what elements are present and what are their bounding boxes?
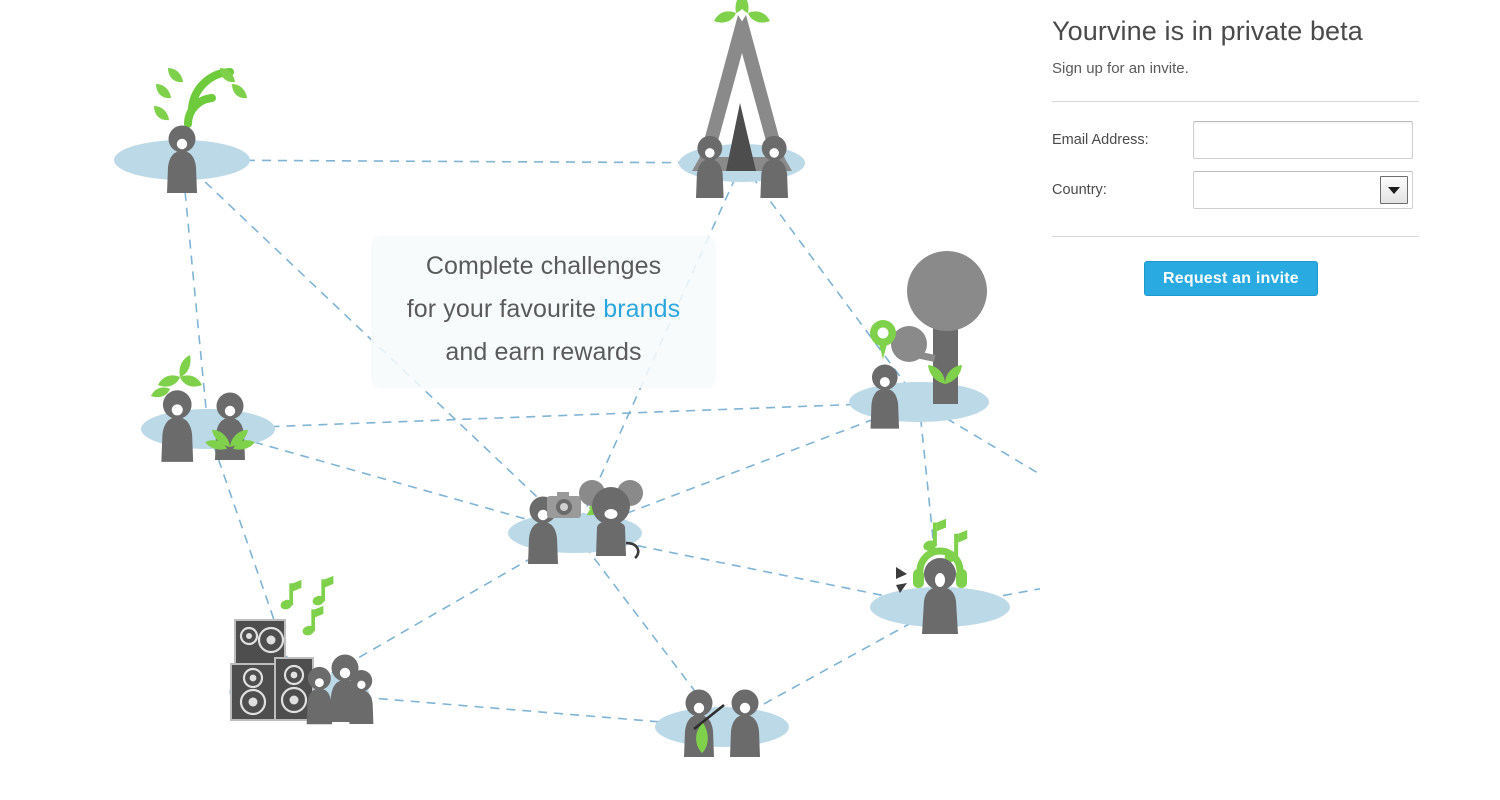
person-figure xyxy=(161,390,193,462)
leaf-icon xyxy=(154,68,247,120)
country-field-row: Country: xyxy=(1052,170,1420,210)
chevron-down-icon[interactable] xyxy=(1380,176,1408,204)
email-label: Email Address: xyxy=(1052,132,1193,148)
network-illustration: Complete challenges for your favourite b… xyxy=(0,0,1040,800)
landing-page: Complete challenges for your favourite b… xyxy=(0,0,1500,800)
person-figure xyxy=(922,558,958,634)
leaf-icon xyxy=(714,0,770,23)
chevron-down-glyph xyxy=(1388,187,1400,194)
tagline-brands-link[interactable]: brands xyxy=(603,295,680,323)
network-link xyxy=(182,160,208,429)
map-pin-icon xyxy=(870,320,896,362)
person-figure xyxy=(871,364,900,428)
node-platform xyxy=(655,707,789,747)
tagline-line-2: for your favourite brands xyxy=(371,288,716,331)
sound-burst-icon xyxy=(896,567,907,593)
submit-row: Request an invite xyxy=(1052,261,1420,296)
person-figure xyxy=(307,667,333,724)
network-graphic xyxy=(0,0,1040,800)
node-platform xyxy=(849,382,989,422)
country-label: Country: xyxy=(1052,182,1193,198)
email-input[interactable] xyxy=(1193,121,1413,159)
person-figure xyxy=(730,690,760,758)
signal-waves-icon xyxy=(188,72,230,124)
country-select[interactable] xyxy=(1193,171,1413,209)
network-link xyxy=(208,402,919,429)
speaker-stack-crowd-node[interactable] xyxy=(231,576,373,724)
network-link xyxy=(742,163,919,402)
tagline-line-3: and earn rewards xyxy=(371,331,716,374)
person-figure xyxy=(349,670,373,724)
music-note-icon xyxy=(279,576,333,637)
network-link xyxy=(919,402,1040,562)
network-link xyxy=(182,160,742,163)
teepee-camp-node[interactable] xyxy=(692,0,792,198)
email-field-row: Email Address: xyxy=(1052,120,1420,160)
tagline-panel: Complete challenges for your favourite b… xyxy=(371,236,716,388)
person-figure xyxy=(760,136,788,198)
page-title: Yourvine is in private beta xyxy=(1052,14,1420,48)
person-figure xyxy=(696,136,724,198)
signup-subtitle: Sign up for an invite. xyxy=(1052,59,1420,79)
tagline-line-1: Complete challenges xyxy=(371,245,716,288)
person-figure xyxy=(167,126,197,194)
speaker-icon xyxy=(231,620,313,720)
person-figure xyxy=(215,393,245,461)
tree-icon xyxy=(891,251,987,404)
signup-panel: Yourvine is in private beta Sign up for … xyxy=(1052,14,1420,296)
divider-bottom xyxy=(1052,236,1419,237)
request-invite-button[interactable]: Request an invite xyxy=(1144,261,1318,296)
camera-icon xyxy=(547,492,581,518)
divider-top xyxy=(1052,101,1419,102)
tagline-line-2-text: for your favourite xyxy=(407,295,603,323)
